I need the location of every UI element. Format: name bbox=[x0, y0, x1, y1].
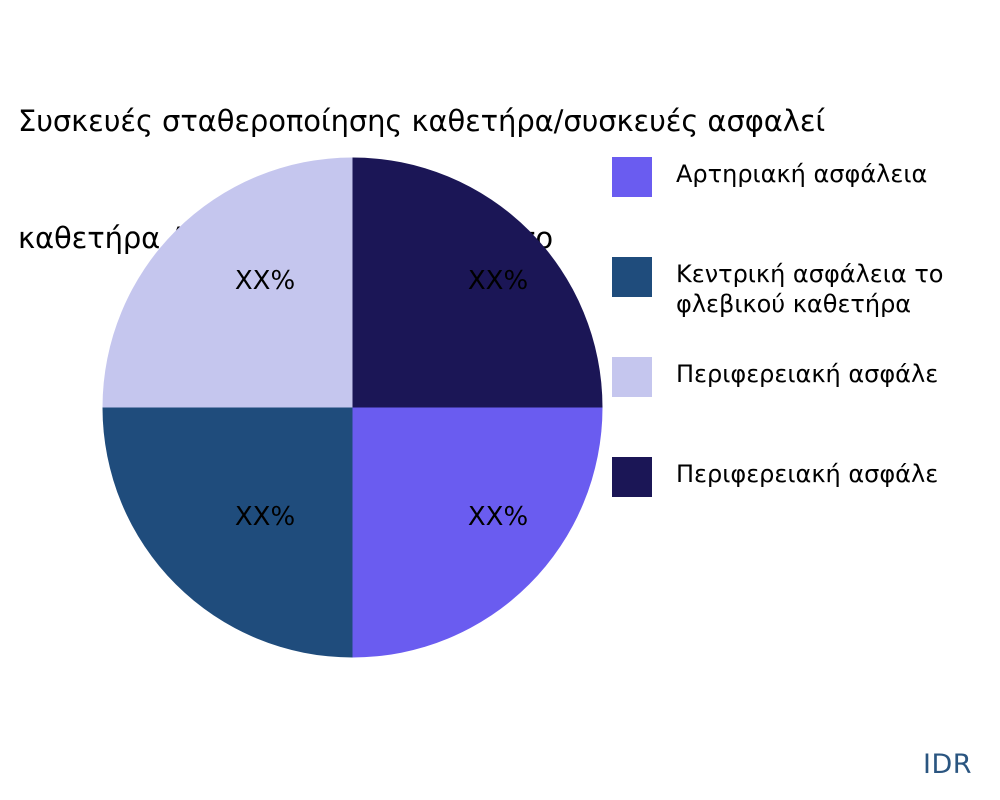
chart-title-line-1: Συσκευές σταθεροποίησης καθετήρα/συσκευέ… bbox=[18, 102, 1000, 141]
legend-item-central-venous[interactable]: Κεντρική ασφάλεια το φλεβικού καθετήρα bbox=[612, 257, 1000, 319]
legend-color-swatch bbox=[612, 257, 652, 297]
pie-slice-top-left[interactable] bbox=[103, 158, 353, 408]
pie-chart-svg bbox=[102, 157, 603, 658]
pie-slice-bottom-right[interactable] bbox=[353, 408, 603, 658]
legend-item-label: Κεντρική ασφάλεια το φλεβικού καθετήρα bbox=[676, 259, 1000, 319]
legend-item-label: Περιφερειακή ασφάλε bbox=[676, 459, 1000, 489]
legend-item-peripheral-a[interactable]: Περιφερειακή ασφάλε bbox=[612, 357, 1000, 397]
legend-color-swatch bbox=[612, 157, 652, 197]
idr-watermark: IDR bbox=[923, 749, 972, 780]
chart-canvas: Συσκευές σταθεροποίησης καθετήρα/συσκευέ… bbox=[0, 0, 1000, 800]
legend-item-arterial[interactable]: Αρτηριακή ασφάλεια bbox=[612, 157, 1000, 197]
legend-item-peripheral-b[interactable]: Περιφερειακή ασφάλε bbox=[612, 457, 1000, 497]
legend-item-label: Περιφερειακή ασφάλε bbox=[676, 359, 1000, 389]
pie-chart bbox=[102, 157, 603, 658]
legend-item-label: Αρτηριακή ασφάλεια bbox=[676, 159, 1000, 189]
pie-slice-bottom-left[interactable] bbox=[103, 408, 353, 658]
pie-slice-top-right[interactable] bbox=[353, 158, 603, 408]
legend-color-swatch bbox=[612, 357, 652, 397]
legend-color-swatch bbox=[612, 457, 652, 497]
